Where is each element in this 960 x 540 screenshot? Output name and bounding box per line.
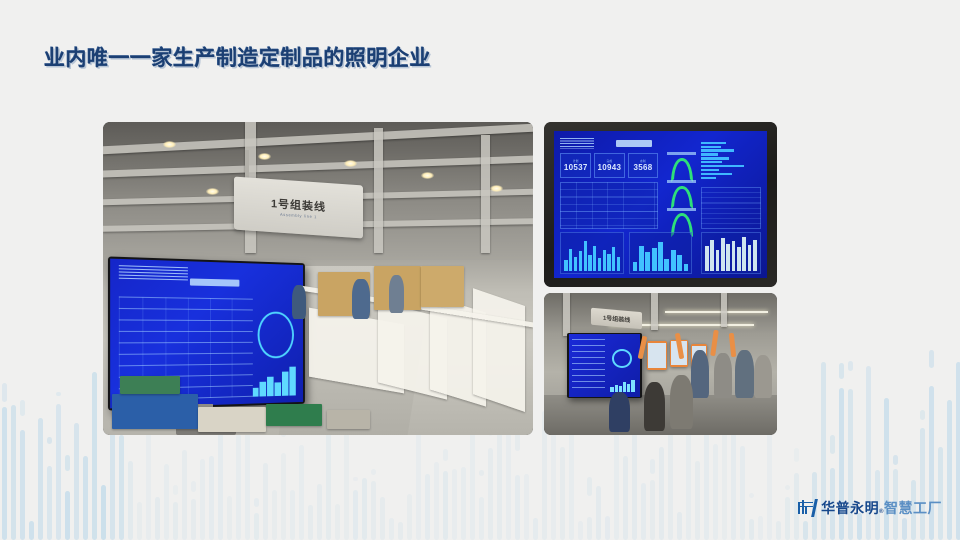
dashboard-donut-gauge: [258, 311, 294, 359]
order-list-table: [701, 187, 761, 230]
carton-box: [198, 407, 267, 432]
factory-worker: [670, 375, 693, 429]
sign-label-sub: Assembly line 1: [280, 212, 317, 220]
decorative-bar: [74, 423, 79, 540]
monthly-stats-chart: [701, 232, 761, 273]
decorative-bar: [758, 516, 763, 540]
decorative-bar: [578, 521, 583, 540]
dashboard-header-text: [118, 265, 187, 283]
decorative-bar: [416, 432, 421, 540]
factory-worker: [644, 382, 665, 430]
decorative-bar: [740, 446, 745, 540]
decorative-bar: [425, 474, 430, 540]
decorative-bar: [236, 434, 241, 540]
factory-worker: [754, 355, 773, 398]
factory-worker: [609, 392, 630, 432]
oee-gauge: [663, 152, 701, 176]
dashboard-title-bar: [189, 278, 239, 286]
decorative-bar: [488, 448, 493, 540]
fpy-gauge: [663, 207, 701, 231]
decorative-bar: [110, 428, 115, 540]
decorative-bar-segment: [785, 485, 790, 490]
decorative-bar-segment: [794, 448, 799, 462]
decorative-bar: [920, 428, 925, 540]
decorative-bar: [902, 518, 907, 540]
dashboard-rows: [572, 339, 604, 389]
decorative-bar: [398, 522, 403, 540]
decorative-bar: [587, 517, 592, 540]
horizontal-bar-chart: [701, 140, 761, 181]
factory-worker: [352, 279, 369, 320]
kpi-value: 10943: [597, 163, 621, 172]
decorative-bar: [182, 450, 187, 540]
decorative-bar: [515, 475, 520, 540]
decorative-bar: [389, 518, 394, 540]
support-column: [563, 293, 570, 336]
decorative-bar: [524, 474, 529, 540]
decorative-bar-segment: [173, 485, 178, 495]
decorative-bar: [371, 481, 376, 540]
dashboard-donut-gauge: [612, 349, 632, 368]
decorative-bar-segment: [47, 437, 52, 445]
ceiling-lamp: [344, 160, 357, 167]
kpi-card: 在制 3568: [628, 153, 659, 178]
decorative-bar: [506, 420, 511, 540]
decorative-bar: [335, 504, 340, 540]
decorative-bar-segment: [443, 449, 448, 461]
decorative-bar: [380, 497, 385, 540]
decorative-bar-segment: [839, 363, 844, 379]
dashboard-logo: [560, 138, 594, 148]
decorative-bar: [47, 466, 52, 540]
decorative-bar: [263, 463, 268, 540]
decorative-bar: [551, 427, 556, 540]
decorative-bar: [299, 445, 304, 540]
decorative-bar: [884, 398, 889, 540]
dashboard-bar-chart: [252, 365, 295, 397]
decorative-bar: [596, 486, 601, 540]
decorative-bar: [947, 400, 952, 540]
plan-rate-gauge: [663, 179, 701, 203]
decorative-bar: [776, 521, 781, 540]
factory-worker: [714, 353, 731, 398]
decorative-bar: [101, 485, 106, 540]
decorative-bar: [218, 427, 223, 540]
decorative-bar: [623, 456, 628, 540]
support-column: [721, 293, 727, 327]
decorative-bar: [191, 499, 196, 540]
daily-output-chart: [560, 232, 624, 273]
kpi-summary-row: 计划 10537 完成 10943 在制 3568: [560, 153, 658, 178]
decorative-bar-segment: [254, 498, 259, 507]
kpi-value: 3568: [634, 163, 653, 172]
dashboard-title: [616, 140, 652, 147]
decorative-bar-segment: [920, 410, 925, 420]
decorative-bar-segment: [749, 493, 754, 498]
decorative-bar: [785, 497, 790, 540]
decorative-bar: [443, 471, 448, 540]
decorative-bar-segment: [371, 469, 376, 475]
bi-dashboard-screen: 计划 10537 完成 10943 在制 3568: [554, 131, 767, 278]
dashboard-bar-chart: [610, 379, 634, 393]
photo-factory-floor-workers: 1号组装线: [544, 293, 777, 435]
work-shelf: [421, 266, 464, 307]
logo-brand: 华普永明: [821, 498, 879, 518]
material-bin: [266, 404, 322, 426]
decorative-bar-segment: [515, 432, 520, 450]
decorative-bar-segment: [893, 455, 898, 465]
decorative-bar: [533, 518, 538, 540]
decorative-bar: [659, 447, 664, 540]
decorative-bar: [92, 372, 97, 540]
line-tablet: [647, 341, 668, 369]
decorative-bar: [308, 505, 313, 540]
decorative-bar: [29, 521, 34, 540]
decorative-bar: [452, 469, 457, 540]
decorative-bar: [209, 456, 214, 540]
decorative-bar: [560, 447, 565, 540]
logo-sub: 智慧工厂: [884, 498, 942, 518]
decorative-bar: [227, 496, 232, 540]
decorative-bar: [677, 512, 682, 540]
decorative-bar: [362, 478, 367, 540]
decorative-bar: [569, 418, 574, 540]
safety-partition: [473, 288, 525, 412]
decorative-bar-segment: [65, 455, 70, 472]
decorative-bar: [407, 494, 412, 540]
decorative-bar: [731, 423, 736, 540]
line-capacity-chart: [629, 232, 693, 273]
decorative-bar: [254, 513, 259, 540]
decorative-bar: [956, 362, 960, 540]
decorative-bar: [290, 490, 295, 540]
kpi-card: 计划 10537: [560, 153, 591, 178]
ceiling-lamp: [163, 141, 176, 148]
pallet: [327, 410, 370, 429]
production-data-table: [560, 182, 658, 229]
decorative-bar-segment: [587, 477, 592, 496]
decorative-bar: [281, 453, 286, 540]
photo-assembly-line-hall: 1号组装线 Assembly line 1: [103, 122, 533, 435]
decorative-bar-segment: [650, 459, 655, 474]
decorative-bar: [65, 491, 70, 540]
decorative-bar: [749, 519, 754, 540]
decorative-bar: [713, 444, 718, 540]
factory-worker: [691, 350, 710, 398]
decorative-bar: [461, 467, 466, 540]
ceiling-structure: [544, 293, 777, 336]
page-title: 业内唯一一家生产制造定制品的照明企业: [44, 42, 431, 72]
decorative-bar-segment: [353, 477, 358, 481]
decorative-bar: [695, 461, 700, 540]
decorative-bar: [155, 497, 160, 540]
decorative-bar: [173, 502, 178, 540]
decorative-bar: [641, 483, 646, 540]
decorative-bar: [632, 431, 637, 540]
decorative-bar: [938, 447, 943, 540]
decorative-bar-segment: [929, 350, 934, 367]
factory-worker: [292, 285, 306, 319]
support-column: [651, 293, 658, 330]
hpm-bars-icon: [797, 499, 816, 517]
decorative-bar: [317, 484, 322, 540]
ceiling-lamp: [206, 188, 219, 195]
ceiling-lamp: [490, 185, 503, 192]
decorative-bar-segment: [191, 481, 196, 492]
kpi-value: 10537: [564, 163, 588, 172]
footer-logo: 华普永明 ® 智慧工厂: [797, 498, 942, 518]
line-status-dashboard-screen: [567, 333, 642, 398]
support-column: [374, 128, 383, 253]
decorative-bar: [119, 435, 124, 540]
decorative-bar: [11, 405, 16, 540]
decorative-bar-segment: [2, 383, 7, 402]
decorative-bar: [668, 427, 673, 540]
decorative-bar: [344, 432, 349, 540]
material-bin: [120, 376, 180, 395]
decorative-bar: [146, 425, 151, 540]
decorative-bar: [128, 461, 133, 540]
decorative-bar: [614, 418, 619, 540]
decorative-bar-segment: [830, 435, 835, 454]
decorative-bar: [56, 404, 61, 540]
support-column: [481, 135, 490, 254]
material-bin: [112, 394, 198, 428]
decorative-bar: [479, 497, 484, 540]
photo-bi-dashboard-display: 计划 10537 完成 10943 在制 3568: [544, 122, 777, 287]
assembly-line-sign: 1号组装线 Assembly line 1: [234, 177, 363, 239]
kpi-card: 完成 10943: [594, 153, 625, 178]
decorative-bar: [686, 427, 691, 540]
decorative-bar: [83, 456, 88, 540]
decorative-bar: [434, 462, 439, 540]
decorative-bar: [137, 502, 142, 540]
decorative-bar-segment: [848, 361, 853, 372]
decorative-bar: [164, 464, 169, 540]
decorative-bar: [650, 480, 655, 540]
decorative-bar-segment: [479, 470, 484, 476]
decorative-bar: [272, 490, 277, 540]
decorative-bar: [38, 418, 43, 540]
decorative-bar: [803, 521, 808, 540]
decorative-bar: [20, 430, 25, 540]
decorative-bar: [605, 516, 610, 540]
gauge-column: [663, 152, 701, 231]
light-tube: [665, 311, 768, 313]
decorative-bar: [353, 490, 358, 540]
factory-worker: [389, 275, 404, 313]
logo-wordmark: 华普永明 ® 智慧工厂: [821, 498, 942, 518]
decorative-bar-segment: [20, 400, 25, 416]
decorative-bar: [2, 407, 7, 540]
factory-worker: [735, 350, 754, 398]
decorative-bar: [200, 459, 205, 540]
decorative-bar-segment: [56, 392, 61, 397]
